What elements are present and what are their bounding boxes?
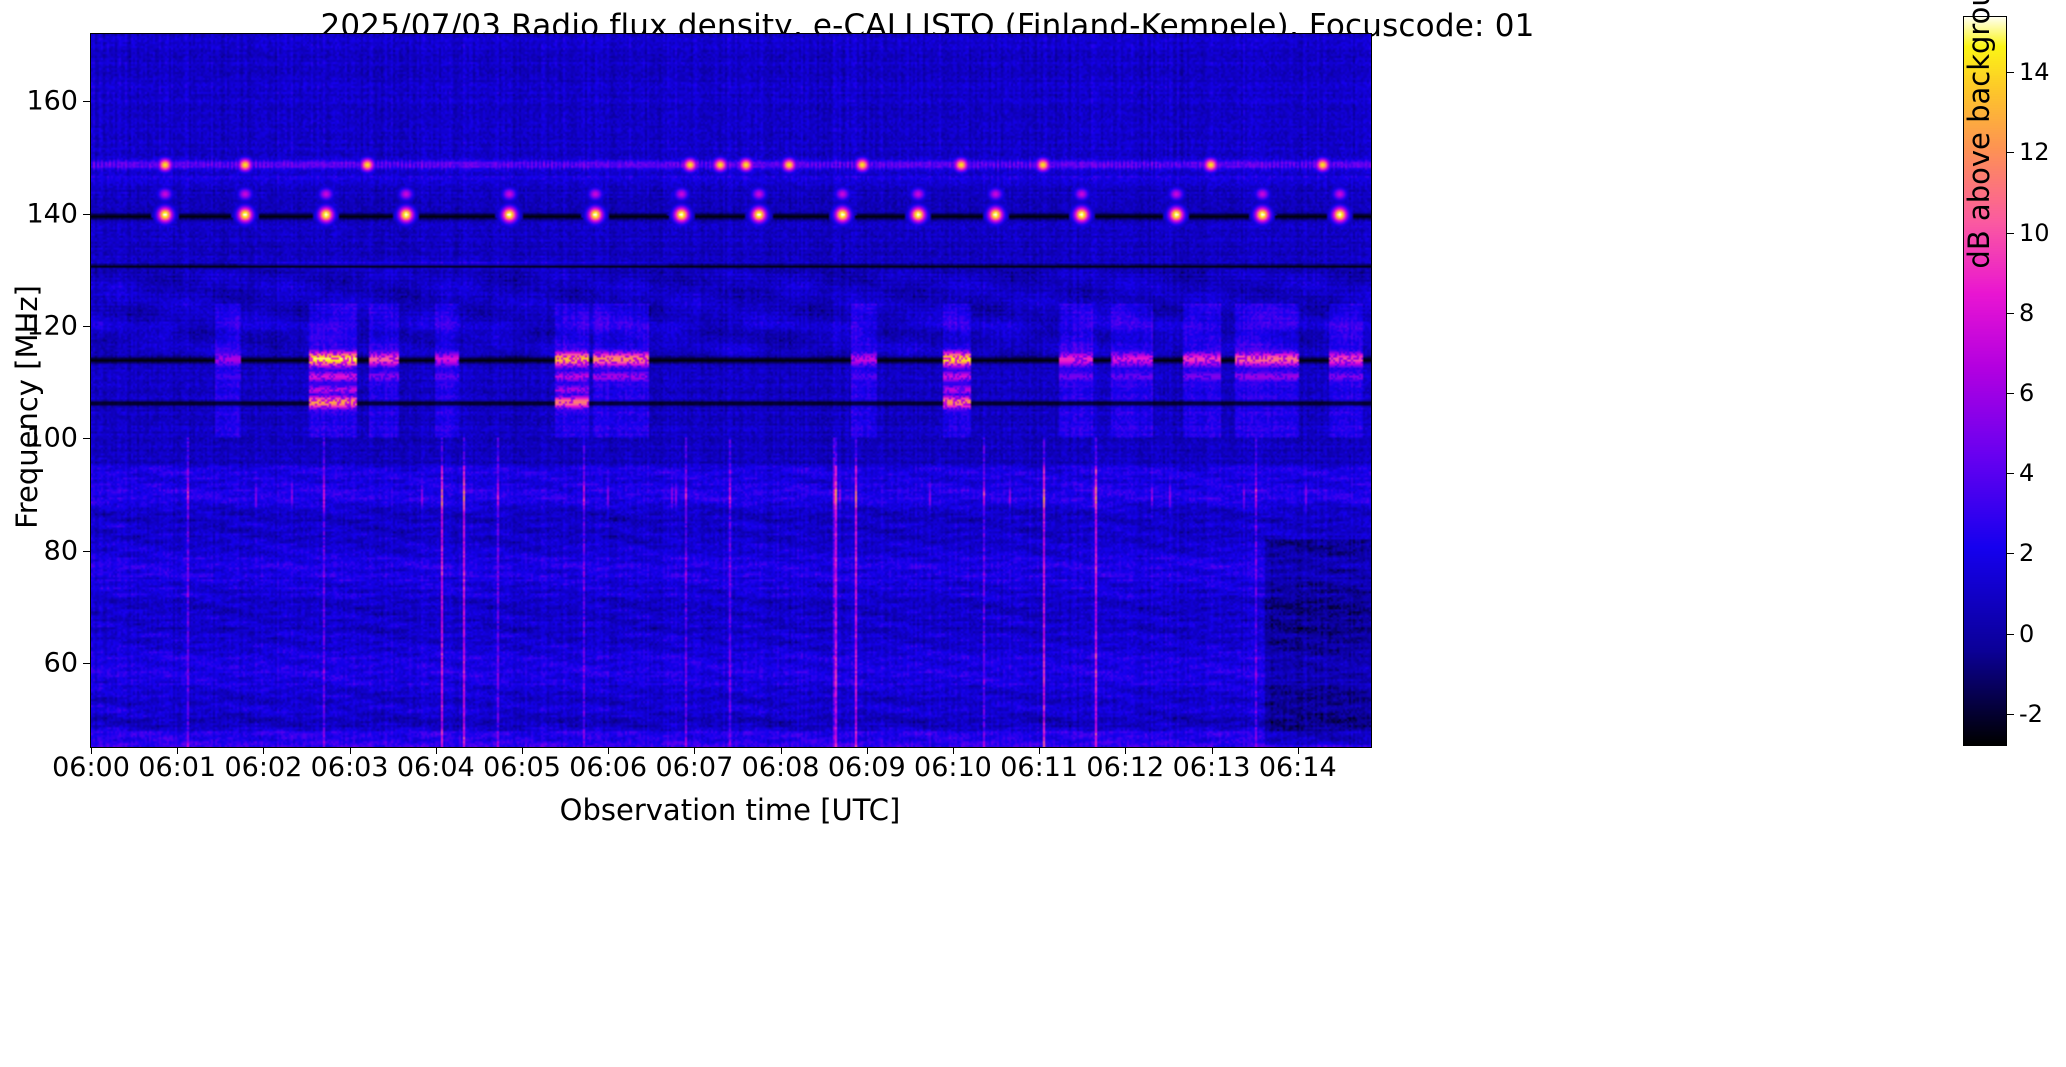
x-tick-label: 06:13 <box>1173 754 1251 781</box>
colorbar-tick-mark <box>2007 553 2014 554</box>
colorbar-tick-label: 0 <box>2019 622 2034 646</box>
x-tick-mark <box>1125 747 1126 754</box>
colorbar-tick-label: -2 <box>2019 702 2043 726</box>
x-tick-mark <box>1298 747 1299 754</box>
x-tick-label: 06:09 <box>828 754 906 781</box>
x-axis-title: Observation time [UTC] <box>90 793 1370 827</box>
y-tick-mark <box>83 101 90 102</box>
x-tick-label: 06:12 <box>1086 754 1164 781</box>
x-tick-label: 06:14 <box>1259 754 1337 781</box>
colorbar-tick-mark <box>2007 313 2014 314</box>
x-tick-label: 06:06 <box>569 754 647 781</box>
x-tick-mark <box>953 747 954 754</box>
colorbar-tick-label: 2 <box>2019 541 2034 565</box>
y-tick-mark <box>83 438 90 439</box>
colorbar-tick-mark <box>2007 233 2014 234</box>
colorbar-title: dB above background <box>1962 0 1996 390</box>
x-tick-label: 06:11 <box>1000 754 1078 781</box>
y-tick-mark <box>83 551 90 552</box>
colorbar-tick-label: 6 <box>2019 381 2034 405</box>
colorbar-tick-mark <box>2007 634 2014 635</box>
colorbar-tick-label: 14 <box>2019 60 2050 84</box>
x-tick-mark <box>91 747 92 754</box>
x-tick-mark <box>522 747 523 754</box>
x-tick-label: 06:03 <box>311 754 389 781</box>
x-tick-label: 06:07 <box>655 754 733 781</box>
colorbar-tick-mark <box>2007 393 2014 394</box>
x-tick-mark <box>608 747 609 754</box>
x-tick-mark <box>1212 747 1213 754</box>
colorbar-tick-label: 8 <box>2019 301 2034 325</box>
x-tick-mark <box>1039 747 1040 754</box>
colorbar-tick-mark <box>2007 473 2014 474</box>
colorbar-tick-mark <box>2007 152 2014 153</box>
colorbar-tick-mark <box>2007 72 2014 73</box>
y-tick-mark <box>83 214 90 215</box>
x-tick-label: 06:01 <box>138 754 216 781</box>
colorbar-tick-label: 12 <box>2019 140 2050 164</box>
y-tick-mark <box>83 326 90 327</box>
x-tick-label: 06:02 <box>224 754 302 781</box>
colorbar-tick-label: 4 <box>2019 461 2034 485</box>
x-tick-mark <box>177 747 178 754</box>
x-axis: 06:0006:0106:0206:0306:0406:0506:0606:07… <box>0 0 2066 1067</box>
y-tick-mark <box>83 663 90 664</box>
x-tick-label: 06:04 <box>397 754 475 781</box>
x-tick-label: 06:08 <box>742 754 820 781</box>
x-tick-mark <box>436 747 437 754</box>
x-tick-label: 06:10 <box>914 754 992 781</box>
x-tick-mark <box>263 747 264 754</box>
x-tick-mark <box>694 747 695 754</box>
x-tick-mark <box>867 747 868 754</box>
colorbar-tick-label: 10 <box>2019 221 2050 245</box>
x-tick-mark <box>350 747 351 754</box>
x-tick-label: 06:00 <box>52 754 130 781</box>
colorbar-tick-mark <box>2007 714 2014 715</box>
x-tick-mark <box>781 747 782 754</box>
x-tick-label: 06:05 <box>483 754 561 781</box>
spectrogram-figure: 2025/07/03 Radio flux density, e-CALLIST… <box>0 0 2066 1067</box>
